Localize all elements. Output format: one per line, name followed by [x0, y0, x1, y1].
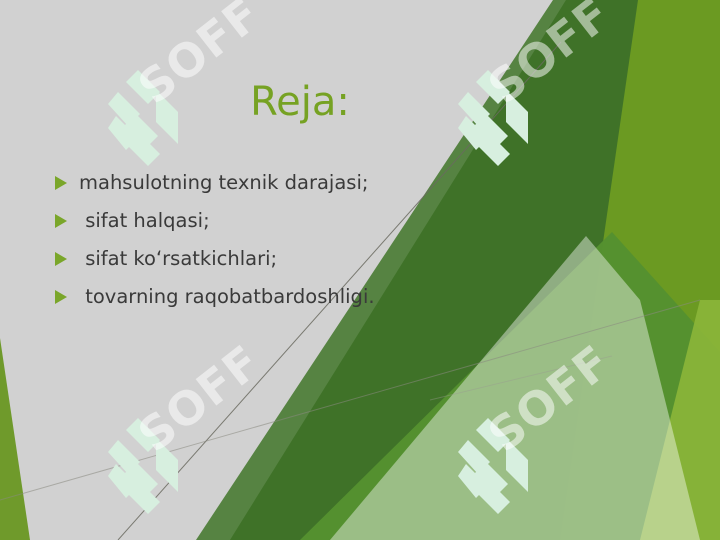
- page-title: Reja:: [0, 82, 600, 122]
- list-item-label: tovarning raqobatbardoshligi.: [79, 284, 375, 310]
- triangle-bullet-icon: [55, 176, 67, 190]
- triangle-bullet-icon: [55, 214, 67, 228]
- list-item: mahsulotning texnik darajasi;: [55, 170, 525, 197]
- bullet-list: mahsulotning texnik darajasi; sifat halq…: [55, 170, 525, 322]
- slide-content: Reja: mahsulotning texnik darajasi; sifa…: [0, 0, 720, 540]
- triangle-bullet-icon: [55, 290, 67, 304]
- list-item-label: sifat ko‘rsatkichlari;: [79, 246, 277, 272]
- presentation-slide: SOFF SOFF SOFF SOFF SOFF SOFF Reja: mahs…: [0, 0, 720, 540]
- list-item-label: mahsulotning texnik darajasi;: [79, 170, 368, 196]
- triangle-bullet-icon: [55, 252, 67, 266]
- list-item: sifat ko‘rsatkichlari;: [55, 246, 525, 273]
- list-item: tovarning raqobatbardoshligi.: [55, 284, 525, 311]
- list-item: sifat halqasi;: [55, 208, 525, 235]
- list-item-label: sifat halqasi;: [79, 208, 210, 234]
